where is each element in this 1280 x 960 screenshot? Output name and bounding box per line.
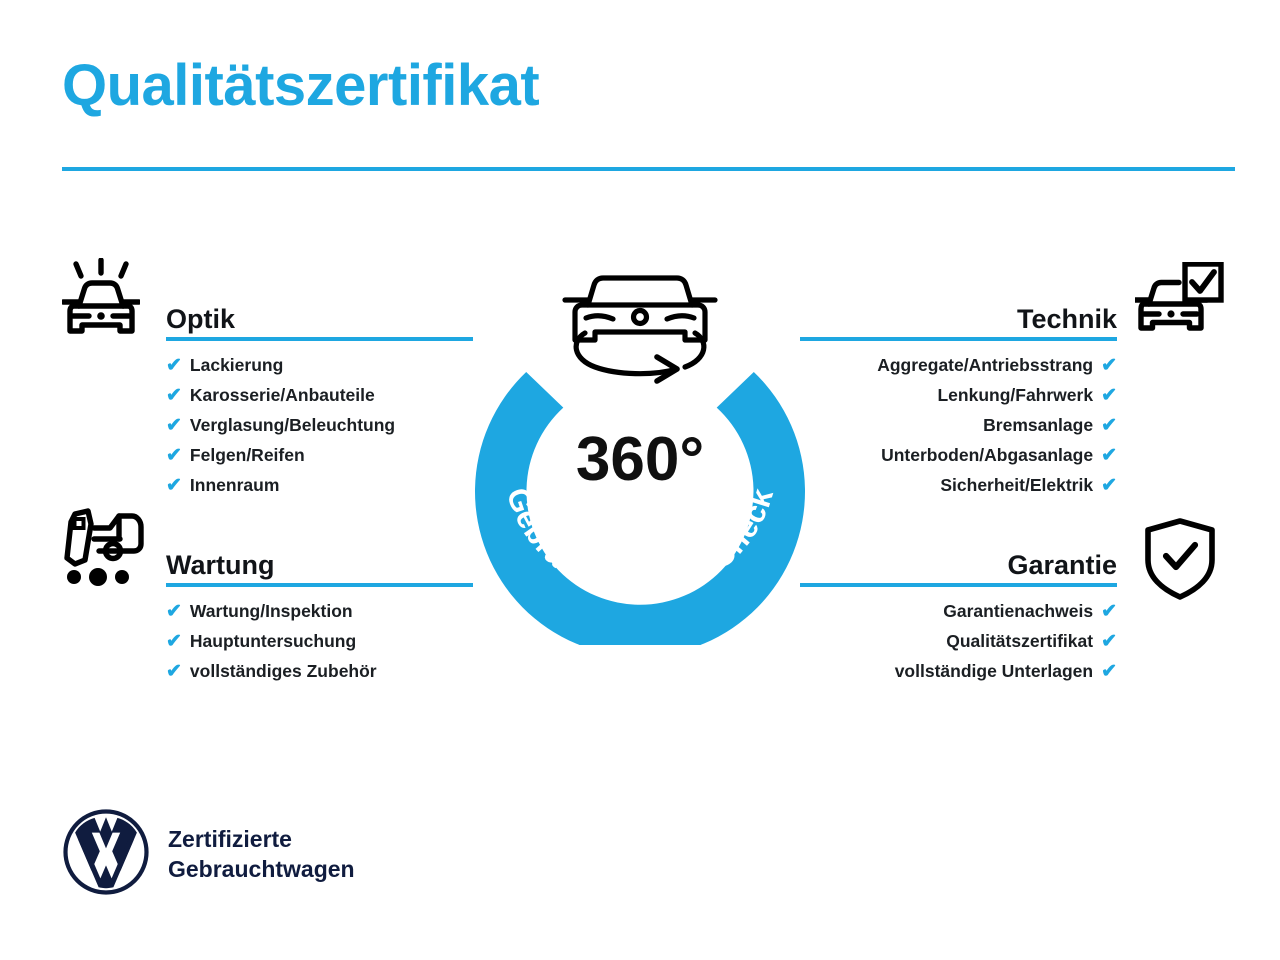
list-item: ✔vollständiges Zubehör <box>166 661 473 691</box>
check-icon: ✔ <box>166 602 182 621</box>
car-front-shine-icon <box>62 258 140 351</box>
section-header: Technik <box>800 295 1117 341</box>
section-header: Optik <box>166 295 473 341</box>
list-item: ✔Innenraum <box>166 475 473 505</box>
footer-line-2: Gebrauchtwagen <box>168 855 355 885</box>
check-icon: ✔ <box>166 356 182 375</box>
list-item: ✔Verglasung/Beleuchtung <box>166 415 473 445</box>
list-item-label: Hauptuntersuchung <box>190 631 356 652</box>
list-item-label: Lenkung/Fahrwerk <box>937 385 1093 406</box>
section-header: Garantie <box>800 541 1117 587</box>
section-optik: Optik ✔Lackierung ✔Karosserie/Anbauteile… <box>166 295 473 505</box>
list-item: ✔Karosserie/Anbauteile <box>166 385 473 415</box>
title-divider <box>62 167 1235 171</box>
section-title-garantie: Garantie <box>1007 552 1117 579</box>
list-item: ✔Hauptuntersuchung <box>166 631 473 661</box>
check-icon: ✔ <box>166 632 182 651</box>
check-icon: ✔ <box>1101 416 1117 435</box>
list-item: ✔Wartung/Inspektion <box>166 601 473 631</box>
page-title: Qualitätszertifikat <box>62 57 539 115</box>
check-icon: ✔ <box>1101 386 1117 405</box>
list-item-label: Karosserie/Anbauteile <box>190 385 375 406</box>
car-front-checkbox-icon <box>1135 262 1225 349</box>
list-item: Aggregate/Antriebsstrang✔ <box>800 355 1117 385</box>
section-divider <box>166 583 473 587</box>
section-title-wartung: Wartung <box>166 552 274 579</box>
car-rotate-360-icon <box>565 278 715 381</box>
section-wartung: Wartung ✔Wartung/Inspektion ✔Hauptunters… <box>166 541 473 691</box>
section-divider <box>166 337 473 341</box>
section-title-optik: Optik <box>166 306 235 333</box>
list-item: Qualitätszertifikat✔ <box>800 631 1117 661</box>
certificate-page: Qualitätszertifikat <box>0 0 1280 960</box>
list-item: Sicherheit/Elektrik✔ <box>800 475 1117 505</box>
list-item-label: vollständiges Zubehör <box>190 661 377 682</box>
section-title-technik: Technik <box>1017 306 1117 333</box>
list-item-label: Wartung/Inspektion <box>190 601 353 622</box>
section-divider <box>800 583 1117 587</box>
list-item: ✔Felgen/Reifen <box>166 445 473 475</box>
check-icon: ✔ <box>1101 446 1117 465</box>
list-item-label: Sicherheit/Elektrik <box>940 475 1093 496</box>
check-icon: ✔ <box>166 662 182 681</box>
list-item-label: vollständige Unterlagen <box>895 661 1093 682</box>
list-item: ✔Lackierung <box>166 355 473 385</box>
check-icon: ✔ <box>166 446 182 465</box>
section-technik: Technik Aggregate/Antriebsstrang✔ Lenkun… <box>800 295 1117 505</box>
list-item: Unterboden/Abgasanlage✔ <box>800 445 1117 475</box>
list-item-label: Innenraum <box>190 475 279 496</box>
check-icon: ✔ <box>166 416 182 435</box>
list-item-label: Lackierung <box>190 355 283 376</box>
optik-checklist: ✔Lackierung ✔Karosserie/Anbauteile ✔Verg… <box>166 355 473 505</box>
list-item: Lenkung/Fahrwerk✔ <box>800 385 1117 415</box>
section-header: Wartung <box>166 541 473 587</box>
badge-degrees: 360° <box>576 425 704 494</box>
list-item-label: Felgen/Reifen <box>190 445 305 466</box>
section-garantie: Garantie Garantienachweis✔ Qualitätszert… <box>800 541 1117 691</box>
check-icon: ✔ <box>1101 602 1117 621</box>
list-item: Garantienachweis✔ <box>800 601 1117 631</box>
list-item-label: Aggregate/Antriebsstrang <box>877 355 1093 376</box>
gebrauchtwagen-check-badge: Gebrauchtwagen-Check 360° <box>455 255 825 645</box>
check-icon: ✔ <box>1101 356 1117 375</box>
check-icon: ✔ <box>1101 632 1117 651</box>
list-item: vollständige Unterlagen✔ <box>800 661 1117 691</box>
wartung-checklist: ✔Wartung/Inspektion ✔Hauptuntersuchung ✔… <box>166 601 473 691</box>
section-divider <box>800 337 1117 341</box>
technik-checklist: Aggregate/Antriebsstrang✔ Lenkung/Fahrwe… <box>800 355 1117 505</box>
garantie-checklist: Garantienachweis✔ Qualitätszertifikat✔ v… <box>800 601 1117 691</box>
check-icon: ✔ <box>166 386 182 405</box>
car-service-tool-icon <box>58 508 150 591</box>
check-icon: ✔ <box>1101 476 1117 495</box>
list-item: Bremsanlage✔ <box>800 415 1117 445</box>
volkswagen-logo <box>62 808 150 901</box>
list-item-label: Garantienachweis <box>943 601 1093 622</box>
list-item-label: Verglasung/Beleuchtung <box>190 415 395 436</box>
shield-check-icon <box>1144 518 1216 605</box>
check-icon: ✔ <box>166 476 182 495</box>
list-item-label: Bremsanlage <box>983 415 1093 436</box>
list-item-label: Unterboden/Abgasanlage <box>881 445 1093 466</box>
footer-branding: Zertifizierte Gebrauchtwagen <box>62 808 355 901</box>
footer-line-1: Zertifizierte <box>168 825 355 855</box>
list-item-label: Qualitätszertifikat <box>946 631 1093 652</box>
footer-text: Zertifizierte Gebrauchtwagen <box>168 825 355 885</box>
check-icon: ✔ <box>1101 662 1117 681</box>
